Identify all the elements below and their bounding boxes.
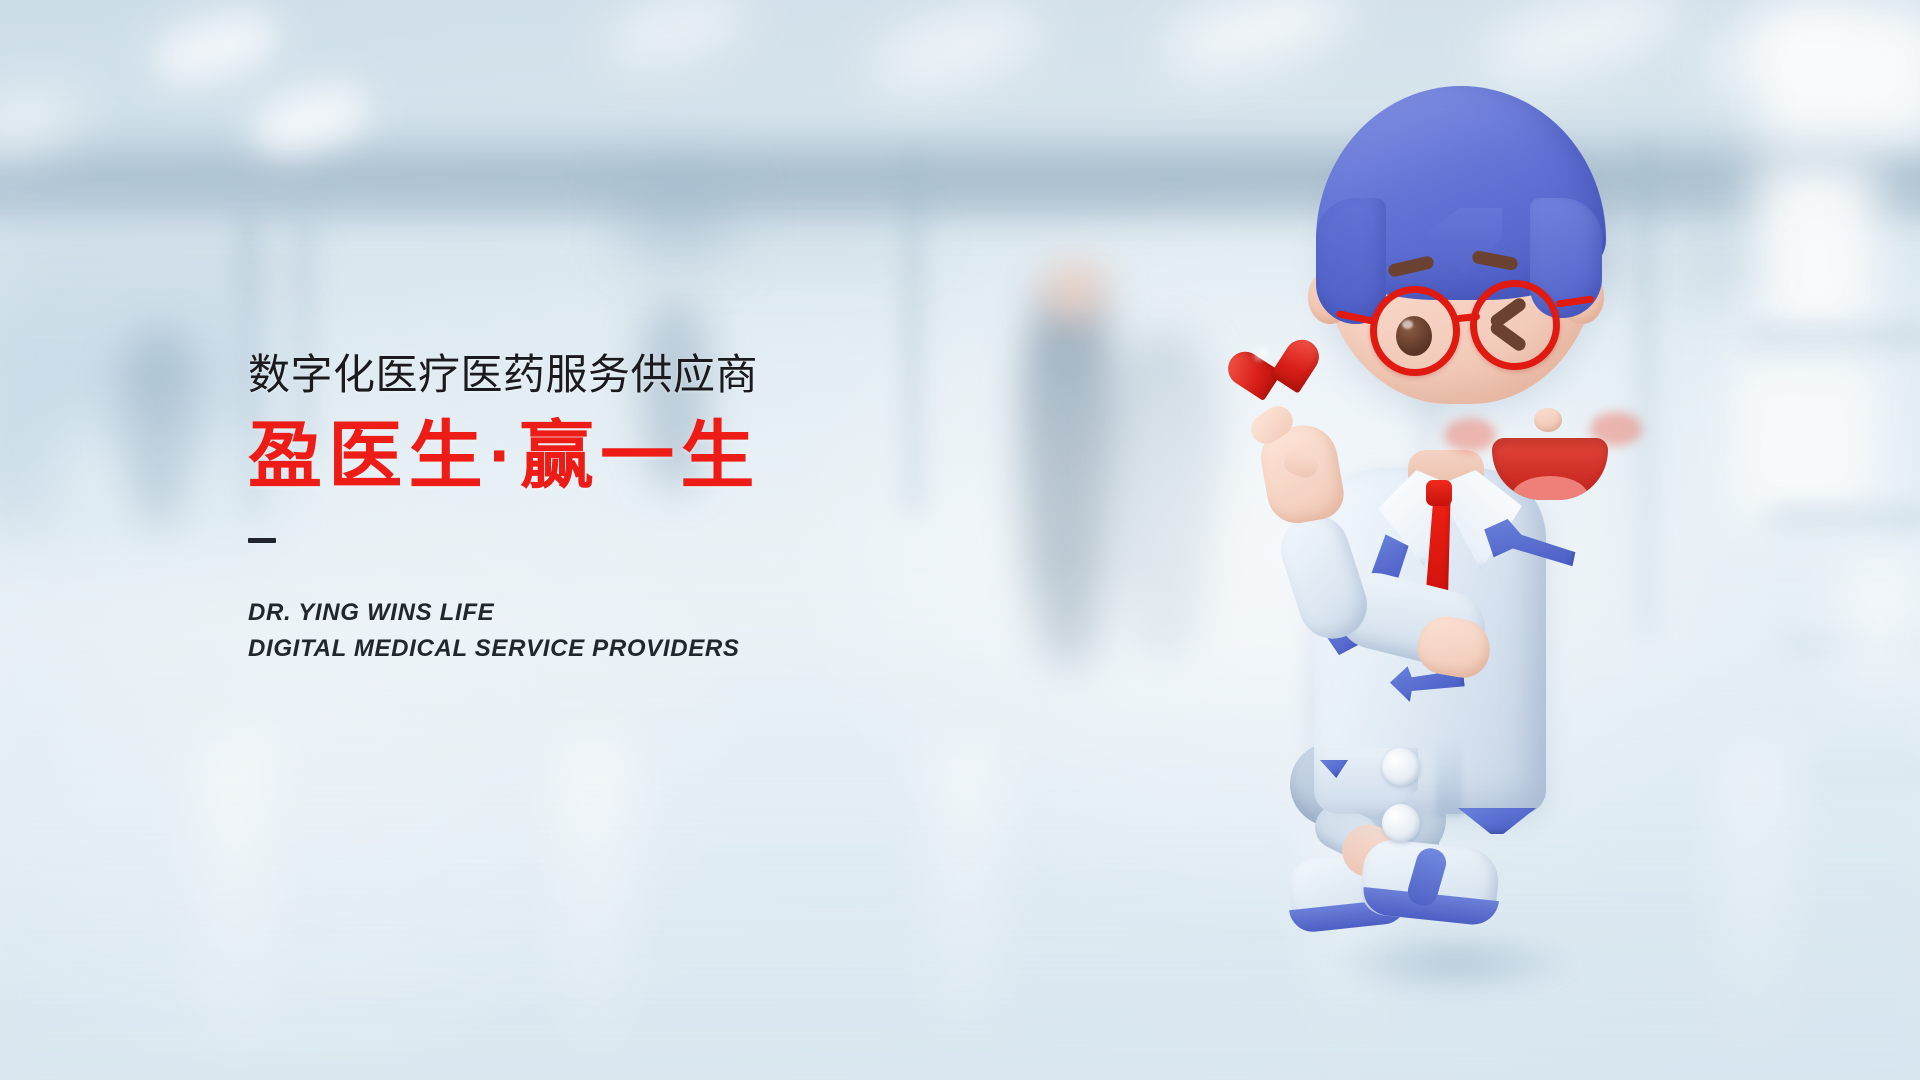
mascot-tongue <box>1512 476 1588 500</box>
subtitle-line-1: DR. YING WINS LIFE <box>248 595 1008 631</box>
window-panel <box>1760 10 1920 140</box>
blurred-person <box>120 326 198 526</box>
mascot-coat-button <box>1382 804 1420 842</box>
subtitle-line-2: DIGITAL MEDICAL SERVICE PROVIDERS <box>248 631 1008 667</box>
mascot-coat-chevron-pocket <box>1458 808 1536 834</box>
glasses-lens-left <box>1370 286 1460 376</box>
blurred-equipment <box>1694 244 1746 278</box>
mascot-coat-button <box>1382 748 1420 786</box>
mascot-hair-side-left <box>1316 198 1386 324</box>
mascot-coat-split <box>1436 738 1462 816</box>
headline-block: 数字化医疗医药服务供应商 盈医生·赢一生 DR. YING WINS LIFE … <box>248 352 1008 668</box>
blurred-person-head <box>1046 262 1102 320</box>
window-panel <box>1756 160 1876 340</box>
hero-banner: 数字化医疗医药服务供应商 盈医生·赢一生 DR. YING WINS LIFE … <box>0 0 1920 1080</box>
floor-reflection <box>560 740 630 1080</box>
divider-rule <box>248 538 276 543</box>
heart-icon <box>1238 328 1312 402</box>
mascot-nose <box>1534 408 1562 432</box>
blurred-equipment <box>628 184 726 250</box>
glasses-lens-right <box>1470 280 1560 370</box>
mascot-shadow <box>1330 928 1580 998</box>
floor-reflection <box>1720 740 1790 1080</box>
mascot-necktie-knot <box>1426 480 1452 506</box>
kicker-text: 数字化医疗医药服务供应商 <box>248 352 1008 397</box>
doctor-mascot <box>1230 48 1660 1048</box>
corridor-rail <box>0 264 300 276</box>
page-title: 盈医生·赢一生 <box>248 417 1008 495</box>
window-panel <box>1730 360 1880 520</box>
floor-reflection <box>200 740 270 1080</box>
shelf-line <box>1750 330 1920 342</box>
shelf-line <box>1770 512 1920 524</box>
mascot-cheek-left <box>1444 418 1496 452</box>
subtitle-block: DR. YING WINS LIFE DIGITAL MEDICAL SERVI… <box>248 595 1008 668</box>
floor-reflection <box>930 740 1000 1080</box>
